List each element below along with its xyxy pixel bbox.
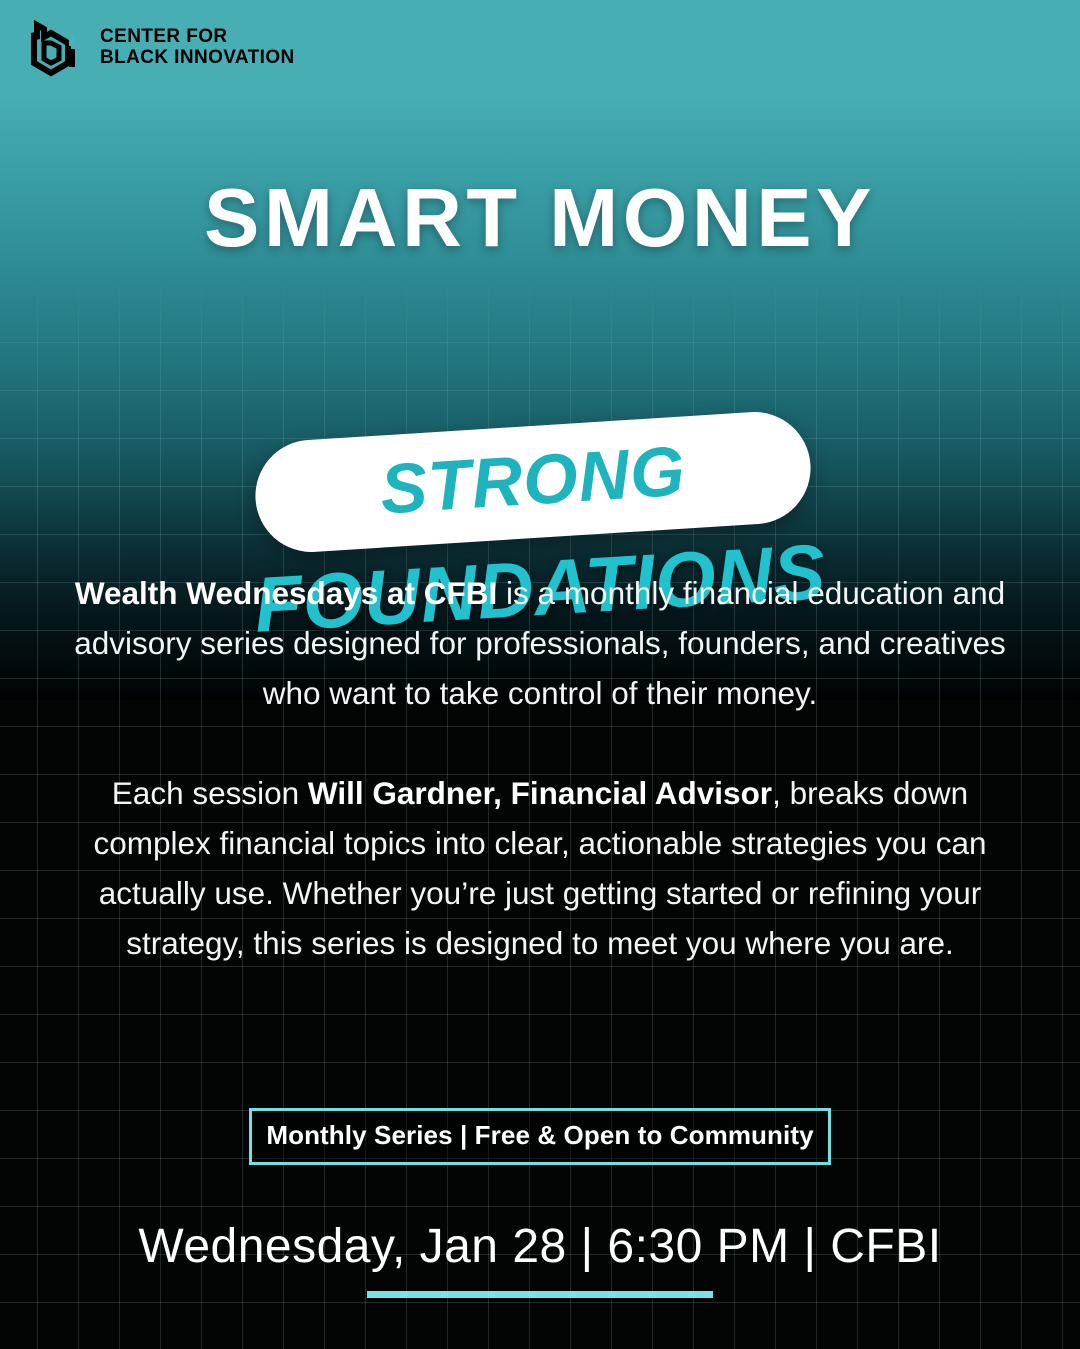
brand-name-line2: BLACK INNOVATION [100,48,295,69]
brand-name-line1: CENTER FOR [100,27,295,48]
event-date-line: Wednesday, Jan 28 | 6:30 PM | CFBI [0,1219,1080,1274]
brand-name: CENTER FOR BLACK INNOVATION [100,27,295,68]
hero-title-block: SMART MONEY STRONG FOUNDATIONS [0,150,1080,510]
event-flyer: CENTER FOR BLACK INNOVATION SMART MONEY … [0,0,1080,1349]
status-badge: Monthly Series | Free & Open to Communit… [249,1108,830,1165]
description-paragraph-2-pre: Each session [112,775,308,811]
description-speaker-name: Will Gardner, Financial Advisor [308,775,772,811]
description-paragraph-2: Each session Will Gardner, Financial Adv… [64,768,1016,968]
event-details-block: Wednesday, Jan 28 | 6:30 PM | CFBI [0,1219,1080,1298]
hexagon-b-mark-icon [22,17,84,79]
description-paragraph-1: Wealth Wednesdays at CFBI is a monthly f… [64,568,1016,718]
badge-row: Monthly Series | Free & Open to Communit… [0,1108,1080,1165]
description-bold-lead: Wealth Wednesdays at CFBI [75,575,497,611]
paragraph-spacer [64,718,1016,768]
brand-logo-lockup: CENTER FOR BLACK INNOVATION [22,17,295,79]
hero-line-smart-money: SMART MONEY [0,170,1080,266]
hero-pill-word: STRONG [378,430,688,529]
event-date-underline [367,1291,713,1298]
header-bar: CENTER FOR BLACK INNOVATION [0,0,1080,96]
description-block: Wealth Wednesdays at CFBI is a monthly f… [64,568,1016,968]
